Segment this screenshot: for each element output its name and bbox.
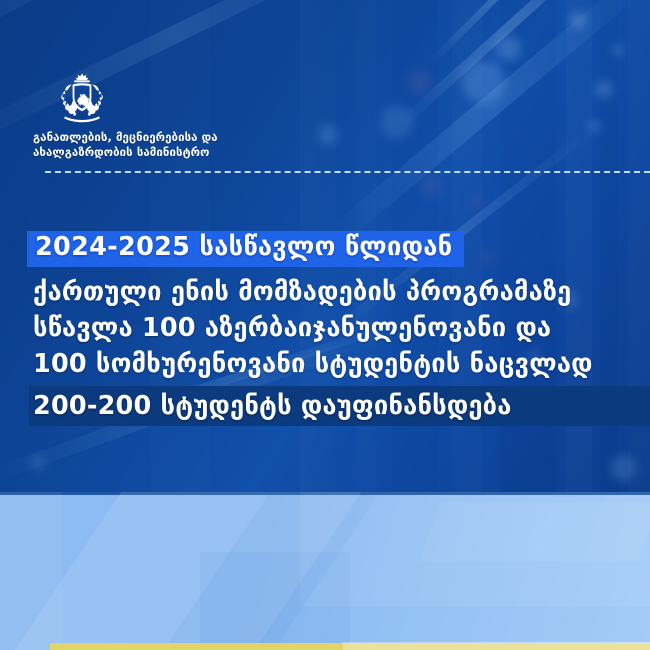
headline-line: სწავლა 100 აზერბაიჯანულენოვანი და [0, 310, 650, 346]
headline-line: 100 სომხურენოვანი სტუდენტის ნაცვლად [0, 346, 650, 382]
ministry-name: განათლების, მეცნიერებისა და ახალგაზრდობი… [33, 130, 333, 160]
ministry-identity: განათლების, მეცნიერებისა და ახალგაზრდობი… [33, 72, 333, 160]
headline-body: ქართული ენის მომზადების პროგრამაზე სწავლ… [0, 274, 650, 383]
header-divider [45, 171, 650, 173]
geometric-facet [9, 492, 370, 650]
top-banner-section: განათლების, მეცნიერებისა და ახალგაზრდობი… [0, 0, 650, 492]
section-seam [0, 492, 650, 495]
headline-final-line: 200-200 სტუდენტს დაუფინანსდება [33, 391, 512, 421]
georgia-coat-of-arms-icon [51, 72, 113, 124]
footer-accent-bar-right [343, 643, 650, 650]
geometric-facet [300, 492, 650, 606]
kicker-highlight: 2024-2025 სასწავლო წლიდან [27, 231, 464, 267]
geometric-facet [419, 502, 650, 562]
announcement-poster: განათლების, მეცნიერებისა და ახალგაზრდობი… [0, 0, 650, 650]
geometric-facet [159, 492, 387, 650]
bottom-accent-section [0, 492, 650, 650]
kicker-row: 2024-2025 სასწავლო წლიდან [0, 231, 650, 267]
geometric-facet [0, 492, 62, 650]
headline-final-row: 200-200 სტუდენტს დაუფინანსდება [0, 386, 650, 426]
headline-block: 2024-2025 სასწავლო წლიდან ქართული ენის მ… [0, 231, 650, 426]
geometric-facet [200, 552, 350, 650]
headline-line: ქართული ენის მომზადების პროგრამაზე [0, 274, 650, 310]
footer-accent-bar-left [50, 643, 343, 650]
